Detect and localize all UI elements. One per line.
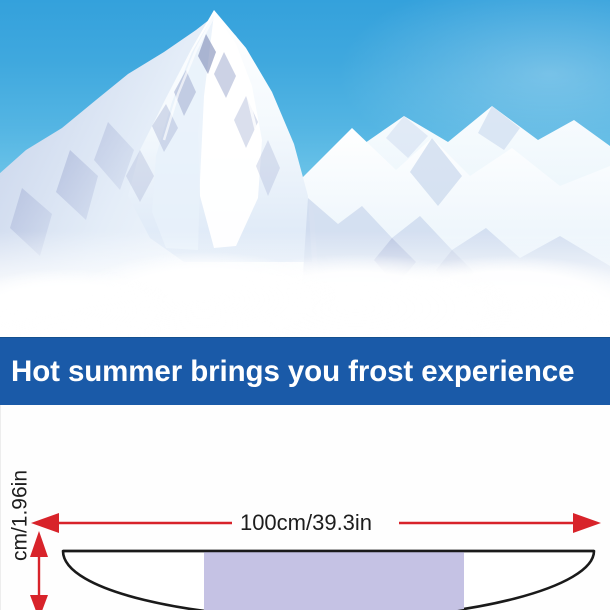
slogan-banner: Hot summer brings you frost experience [0,337,610,405]
diagram-drawing [1,405,610,610]
product-listing-image: Hot summer brings you frost experience [0,0,610,610]
dimension-diagram: 100cm/39.3in cm/1.96in [0,405,610,610]
slogan-text: Hot summer brings you frost experience [11,357,574,387]
cloud-layer [0,231,610,337]
mountain-hero-photo [0,0,610,337]
height-arrow-head-bottom [30,595,48,610]
mat-inset-panel [204,551,464,610]
width-arrow-head-left [31,513,59,533]
width-arrow-head-right [573,513,601,533]
height-dimension-label: cm/1.96in [10,441,31,591]
height-arrow-head-top [30,531,48,557]
